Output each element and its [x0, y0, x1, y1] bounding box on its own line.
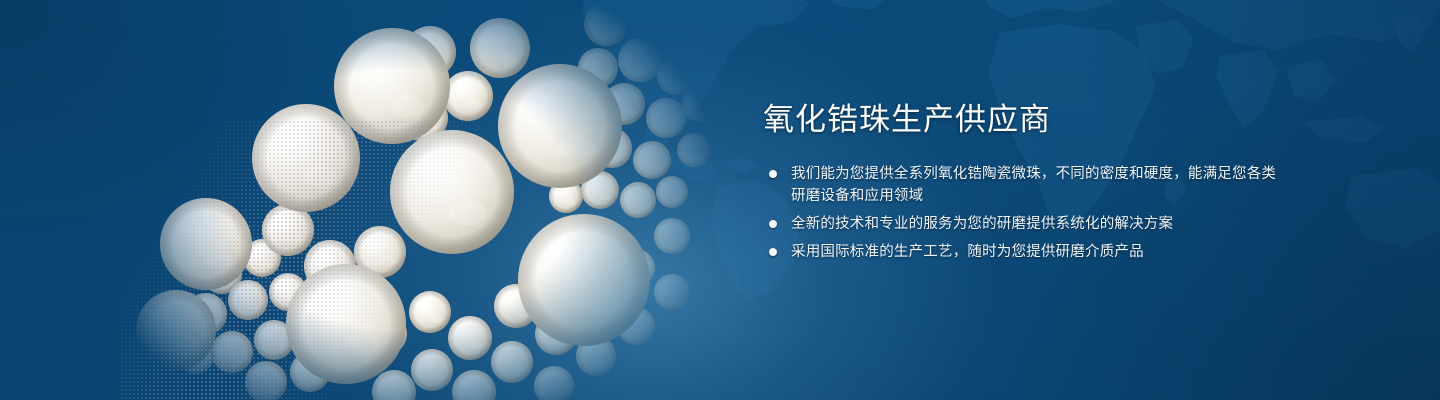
hero-banner: 氧化锆珠生产供应商 我们能为您提供全系列氧化锆陶瓷微珠，不同的密度和硬度，能满足… — [0, 0, 1440, 400]
list-item-label: 全新的技术和专业的服务为您的研磨提供系统化的解决方案 — [791, 213, 1283, 235]
feature-list: 我们能为您提供全系列氧化锆陶瓷微珠，不同的密度和硬度，能满足您各类研磨设备和应用… — [763, 163, 1283, 263]
banner-copy: 氧化锆珠生产供应商 我们能为您提供全系列氧化锆陶瓷微珠，不同的密度和硬度，能满足… — [763, 100, 1283, 263]
bullet-dot-icon — [769, 170, 777, 178]
list-item-label: 采用国际标准的生产工艺，随时为您提供研磨介质产品 — [791, 241, 1283, 263]
zirconia-beads-photo — [0, 0, 760, 400]
page-title: 氧化锆珠生产供应商 — [763, 100, 1283, 140]
bullet-dot-icon — [769, 248, 777, 256]
list-item-label: 我们能为您提供全系列氧化锆陶瓷微珠，不同的密度和硬度，能满足您各类研磨设备和应用… — [791, 163, 1283, 207]
bullet-dot-icon — [769, 220, 777, 228]
list-item: 全新的技术和专业的服务为您的研磨提供系统化的解决方案 — [763, 213, 1283, 235]
list-item: 采用国际标准的生产工艺，随时为您提供研磨介质产品 — [763, 241, 1283, 263]
list-item: 我们能为您提供全系列氧化锆陶瓷微珠，不同的密度和硬度，能满足您各类研磨设备和应用… — [763, 163, 1283, 207]
